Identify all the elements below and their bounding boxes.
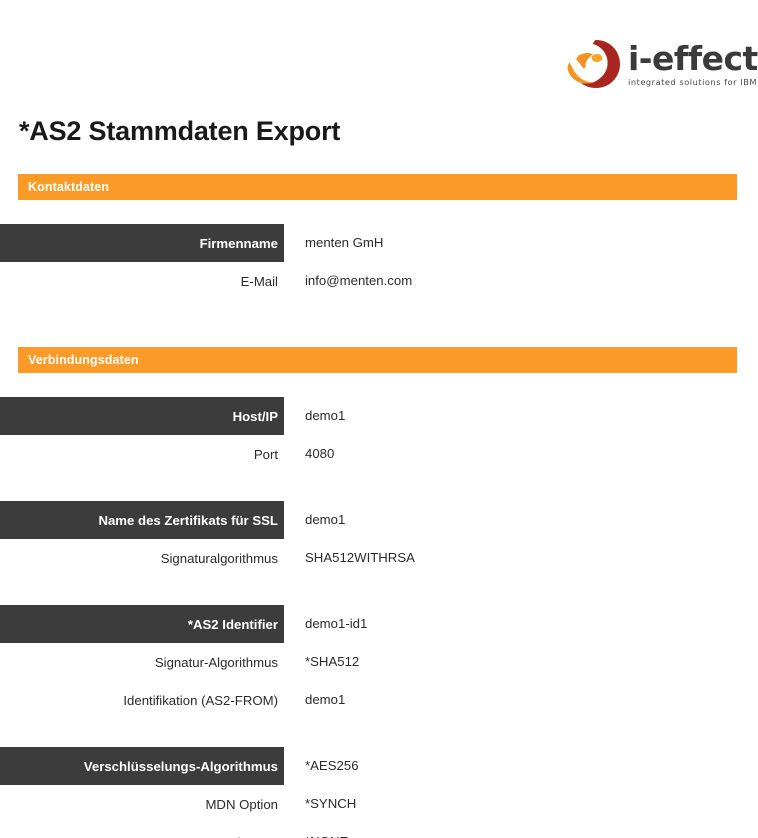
logo-wordmark: i-effect — [628, 42, 758, 76]
field-label: MDN Signatur — [0, 823, 284, 838]
field-value: demo1 — [284, 512, 345, 528]
section-verbindungsdaten: VerbindungsdatenHost/IPdemo1Port4080Name… — [0, 347, 758, 838]
field-row: MDN Signatur*NONE — [0, 823, 758, 838]
field-value: *SYNCH — [284, 796, 356, 812]
field-row: Host/IPdemo1 — [0, 397, 758, 435]
section-header: Verbindungsdaten — [18, 347, 737, 373]
logo-tagline: integrated solutions for IBM i — [628, 77, 758, 88]
section-header-label: Kontaktdaten — [28, 180, 109, 194]
field-row: Name des Zertifikats für SSLdemo1 — [0, 501, 758, 539]
field-label: E-Mail — [0, 262, 284, 300]
logo-text: i-effect ® integrated solutions for IBM … — [628, 40, 758, 88]
field-label: Identifikation (AS2-FROM) — [0, 681, 284, 719]
field-row: E-Mailinfo@menten.com — [0, 262, 758, 300]
field-row: SignaturalgorithmusSHA512WITHRSA — [0, 539, 758, 577]
brand-logo: i-effect ® integrated solutions for IBM … — [566, 36, 744, 92]
field-group: Firmennamementen GmHE-Mailinfo@menten.co… — [0, 200, 758, 300]
field-row: Firmennamementen GmH — [0, 224, 758, 262]
field-group: Name des Zertifikats für SSLdemo1Signatu… — [0, 473, 758, 577]
field-label: Host/IP — [0, 397, 284, 435]
page-title: *AS2 Stammdaten Export — [19, 114, 340, 148]
field-label: Name des Zertifikats für SSL — [0, 501, 284, 539]
field-value: *SHA512 — [284, 654, 359, 670]
field-value: demo1-id1 — [284, 616, 367, 632]
field-group: Verschlüsselungs-Algorithmus*AES256MDN O… — [0, 719, 758, 838]
field-value: menten GmH — [284, 235, 383, 251]
as2-master-data-export-page: i-effect ® integrated solutions for IBM … — [0, 0, 758, 838]
i-effect-logo-icon — [566, 38, 622, 90]
field-value: demo1 — [284, 408, 345, 424]
field-group: *AS2 Identifierdemo1-id1Signatur-Algorit… — [0, 577, 758, 719]
report-content: KontaktdatenFirmennamementen GmHE-Mailin… — [0, 174, 758, 838]
field-label: Firmenname — [0, 224, 284, 262]
field-label: Signaturalgorithmus — [0, 539, 284, 577]
field-label: Signatur-Algorithmus — [0, 643, 284, 681]
field-label: MDN Option — [0, 785, 284, 823]
field-group: Host/IPdemo1Port4080 — [0, 373, 758, 473]
field-value: SHA512WITHRSA — [284, 550, 415, 566]
field-label: *AS2 Identifier — [0, 605, 284, 643]
field-value: *NONE — [284, 834, 348, 838]
field-label: Verschlüsselungs-Algorithmus — [0, 747, 284, 785]
section-spacer — [0, 300, 758, 347]
field-row: *AS2 Identifierdemo1-id1 — [0, 605, 758, 643]
field-value: demo1 — [284, 692, 345, 708]
field-row: Identifikation (AS2-FROM)demo1 — [0, 681, 758, 719]
field-row: Verschlüsselungs-Algorithmus*AES256 — [0, 747, 758, 785]
section-header-label: Verbindungsdaten — [28, 353, 139, 367]
field-row: Signatur-Algorithmus*SHA512 — [0, 643, 758, 681]
field-row: MDN Option*SYNCH — [0, 785, 758, 823]
field-value: info@menten.com — [284, 273, 412, 289]
field-value: 4080 — [284, 446, 334, 462]
section-header: Kontaktdaten — [18, 174, 737, 200]
section-kontaktdaten: KontaktdatenFirmennamementen GmHE-Mailin… — [0, 174, 758, 300]
field-value: *AES256 — [284, 758, 359, 774]
field-row: Port4080 — [0, 435, 758, 473]
field-label: Port — [0, 435, 284, 473]
